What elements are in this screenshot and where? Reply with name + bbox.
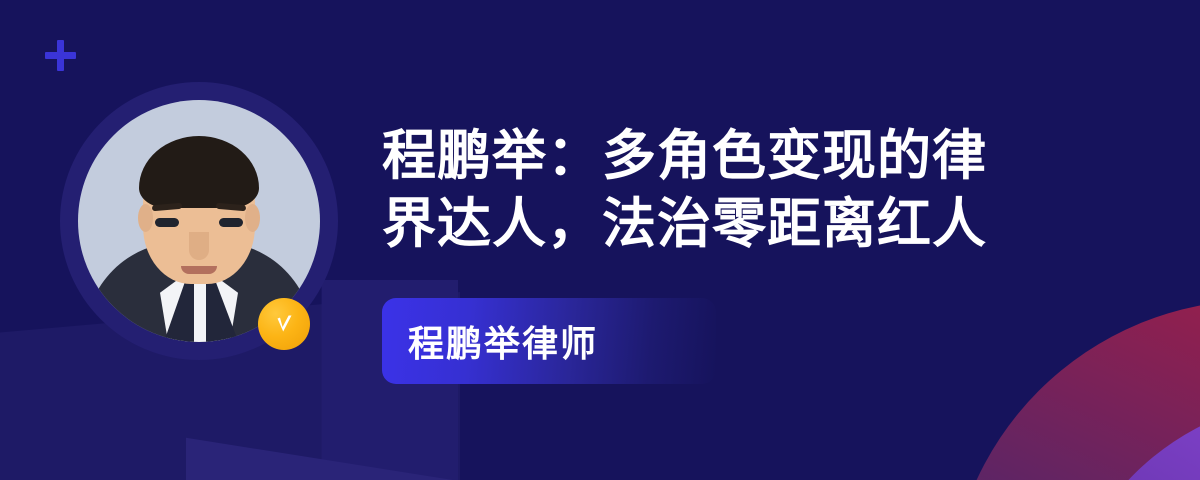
profile-banner: 程鹏举：多角色变现的律 界达人，法治零距离红人 程鹏举律师 bbox=[0, 0, 1200, 480]
page-title: 程鹏举：多角色变现的律 界达人，法治零距离红人 bbox=[382, 122, 1082, 258]
verified-check-icon bbox=[258, 298, 310, 350]
plus-icon bbox=[45, 40, 76, 71]
name-chip-label: 程鹏举律师 bbox=[382, 315, 598, 367]
name-chip[interactable]: 程鹏举律师 bbox=[382, 298, 716, 384]
